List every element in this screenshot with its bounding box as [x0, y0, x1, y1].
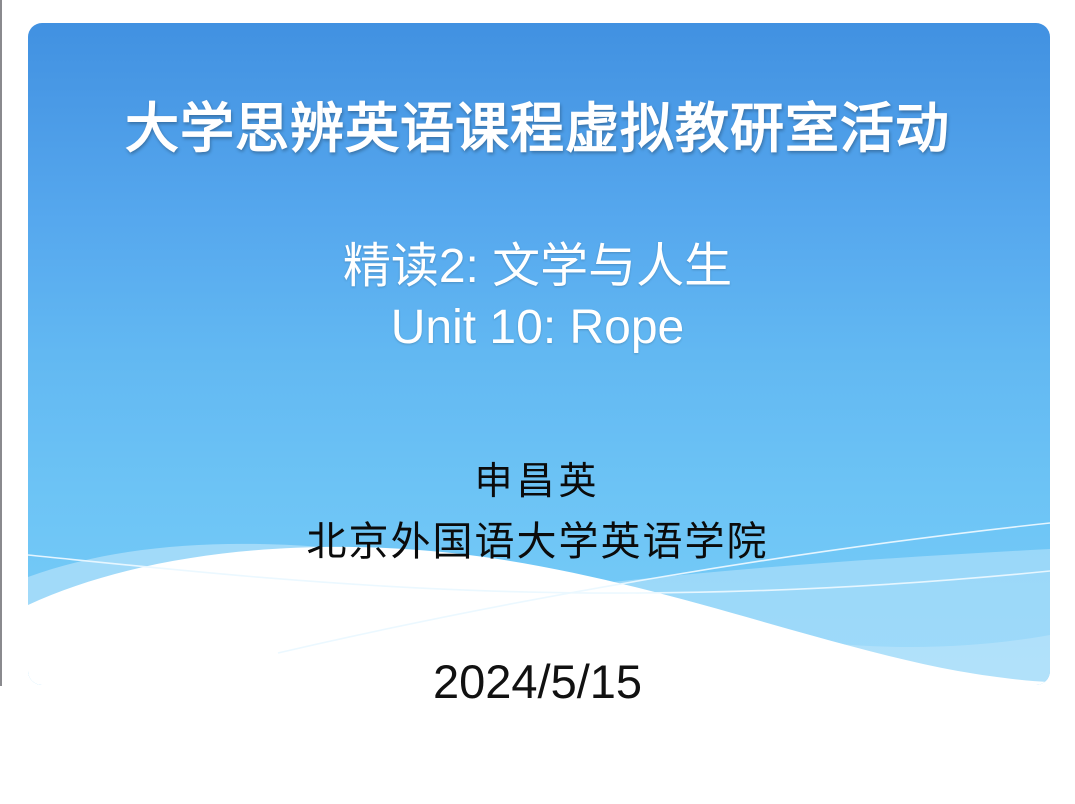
presenter-affiliation: 北京外国语大学英语学院: [0, 511, 1075, 573]
title-slide: 大学思辨英语课程虚拟教研室活动 精读2: 文学与人生 Unit 10: Rope…: [0, 0, 1075, 804]
page-title: 大学思辨英语课程虚拟教研室活动: [0, 98, 1075, 160]
subtitle-line-unit: Unit 10: Rope: [0, 297, 1075, 358]
presenter-block: 申昌英 北京外国语大学英语学院: [0, 452, 1075, 573]
presenter-name: 申昌英: [0, 452, 1075, 511]
slide-text-layer: 大学思辨英语课程虚拟教研室活动 精读2: 文学与人生 Unit 10: Rope…: [0, 0, 1075, 804]
subtitle-line-course: 精读2: 文学与人生: [0, 236, 1075, 297]
subtitle-block: 精读2: 文学与人生 Unit 10: Rope: [0, 236, 1075, 359]
slide-date: 2024/5/15: [0, 654, 1075, 709]
